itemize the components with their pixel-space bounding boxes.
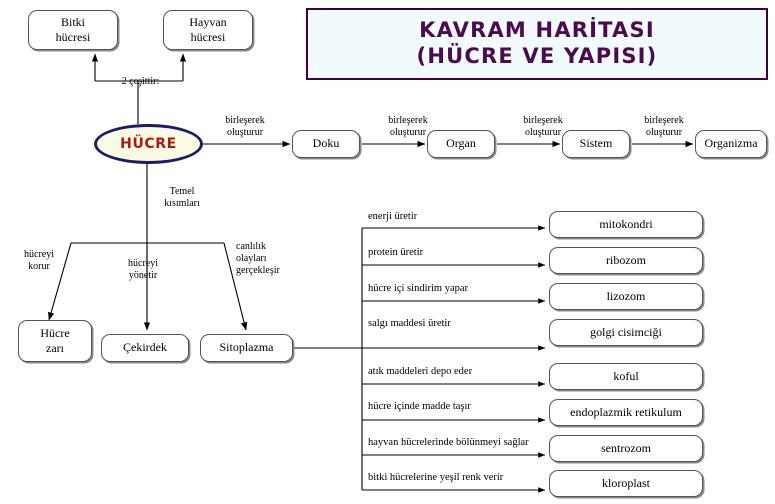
edge-label-hucre-zari-line2: korur bbox=[13, 261, 65, 273]
edge-label-chain-1-line2: oluşturur bbox=[209, 127, 281, 139]
node-cekirdek[interactable]: Çekirdek bbox=[101, 334, 189, 362]
node-hucre-root[interactable]: HÜCRE bbox=[94, 124, 203, 164]
node-doku-label: Doku bbox=[313, 137, 340, 150]
edge-label-chain-1: birleşerek oluşturur bbox=[209, 115, 281, 139]
node-golgi-cisimcigi[interactable]: golgi cisimciği bbox=[549, 319, 703, 346]
node-mitokondri-label: mitokondri bbox=[599, 218, 652, 231]
title-line-1: KAVRAM HARİTASI bbox=[419, 18, 655, 44]
edge-label-chain-4: birleşerek oluşturur bbox=[629, 115, 699, 139]
node-endoplazmik-retikulum[interactable]: endoplazmik retikulum bbox=[549, 399, 703, 426]
node-koful[interactable]: koful bbox=[549, 363, 703, 390]
organelle-function-7: bitki hücrelerine yeşil renk verir bbox=[368, 472, 503, 483]
node-sitoplazma-label: Sitoplazma bbox=[220, 341, 274, 354]
node-bitki-hucresi-line1: Bitki bbox=[56, 15, 91, 30]
edge-label-chain-4-line2: oluşturur bbox=[629, 127, 699, 139]
node-cekirdek-label: Çekirdek bbox=[123, 341, 167, 354]
edge-label-sitoplazma: canlılık olayları gerçekleşir bbox=[236, 241, 310, 277]
edge-label-cekirdek: hücreyi yönetir bbox=[113, 258, 173, 282]
node-organ-label: Organ bbox=[446, 137, 476, 150]
edge-label-chain-1-line1: birleşerek bbox=[209, 115, 281, 127]
node-sentrozom[interactable]: sentrozom bbox=[549, 435, 703, 462]
edge-label-chain-3-line1: birleşerek bbox=[507, 115, 579, 127]
node-hucre-zari[interactable]: Hücre zarı bbox=[18, 320, 92, 362]
node-kloroplast-label: kloroplast bbox=[602, 477, 650, 490]
organelle-function-2: hücre içi sindirim yapar bbox=[368, 283, 468, 294]
node-organizma-label: Organizma bbox=[704, 137, 757, 150]
title-panel: KAVRAM HARİTASI (HÜCRE VE YAPISI) bbox=[306, 8, 768, 80]
organelle-function-0: enerji üretir bbox=[368, 211, 417, 222]
node-sistem-label: Sistem bbox=[580, 137, 613, 150]
edge-label-cekirdek-line1: hücreyi bbox=[113, 258, 173, 270]
edge-label-2-cesittir: 2 çeşittir: bbox=[103, 76, 178, 88]
organelle-function-4: atık maddeleri depo eder bbox=[368, 366, 472, 377]
edge-label-sitoplazma-line3: gerçekleşir bbox=[236, 265, 310, 277]
organelle-function-5: hücre içinde madde taşır bbox=[368, 401, 471, 412]
edge-label-temel-kisimlari-line1: Temel bbox=[150, 186, 214, 198]
node-mitokondri[interactable]: mitokondri bbox=[549, 211, 703, 238]
node-lizozom[interactable]: lizozom bbox=[549, 283, 703, 310]
organelle-function-3: salgı maddesi üretir bbox=[368, 318, 451, 329]
node-hucre-root-label: HÜCRE bbox=[120, 136, 177, 152]
node-ribozom-label: ribozom bbox=[606, 254, 646, 267]
edge-label-chain-2-line1: birleşerek bbox=[372, 115, 444, 127]
edge-label-cekirdek-line2: yönetir bbox=[113, 270, 173, 282]
node-koful-label: koful bbox=[613, 370, 638, 383]
edge-label-sitoplazma-line1: canlılık bbox=[236, 241, 310, 253]
node-endoplazmik-retikulum-label: endoplazmik retikulum bbox=[570, 406, 682, 419]
node-sentrozom-label: sentrozom bbox=[601, 442, 651, 455]
node-sistem[interactable]: Sistem bbox=[562, 130, 630, 158]
node-bitki-hucresi-line2: hücresi bbox=[56, 30, 91, 45]
node-hayvan-hucresi-line1: Hayvan bbox=[189, 15, 226, 30]
node-hayvan-hucresi[interactable]: Hayvan hücresi bbox=[163, 10, 253, 50]
node-bitki-hucresi[interactable]: Bitki hücresi bbox=[28, 10, 118, 50]
edge-label-sitoplazma-line2: olayları bbox=[236, 253, 310, 265]
node-kloroplast[interactable]: kloroplast bbox=[549, 470, 703, 497]
edge-label-temel-kisimlari: Temel kısımları bbox=[150, 186, 214, 210]
edge-label-temel-kisimlari-line2: kısımları bbox=[150, 198, 214, 210]
node-ribozom[interactable]: ribozom bbox=[549, 247, 703, 274]
node-lizozom-label: lizozom bbox=[607, 290, 646, 303]
node-doku[interactable]: Doku bbox=[292, 130, 360, 158]
node-organ[interactable]: Organ bbox=[427, 130, 495, 158]
node-hucre-zari-line1: Hücre bbox=[40, 326, 69, 341]
node-golgi-cisimcigi-label: golgi cisimciği bbox=[590, 326, 662, 339]
organelle-function-6: hayvan hücrelerinde bölünmeyi sağlar bbox=[368, 437, 529, 448]
edge-label-hucre-zari: hücreyi korur bbox=[13, 249, 65, 273]
title-line-2: (HÜCRE VE YAPISI) bbox=[417, 44, 658, 70]
edge-label-chain-4-line1: birleşerek bbox=[629, 115, 699, 127]
edge-label-hucre-zari-line1: hücreyi bbox=[13, 249, 65, 261]
node-sitoplazma[interactable]: Sitoplazma bbox=[200, 334, 293, 362]
node-hucre-zari-line2: zarı bbox=[40, 341, 69, 356]
node-organizma[interactable]: Organizma bbox=[695, 130, 767, 158]
node-hayvan-hucresi-line2: hücresi bbox=[189, 30, 226, 45]
organelle-function-1: protein üretir bbox=[368, 247, 423, 258]
